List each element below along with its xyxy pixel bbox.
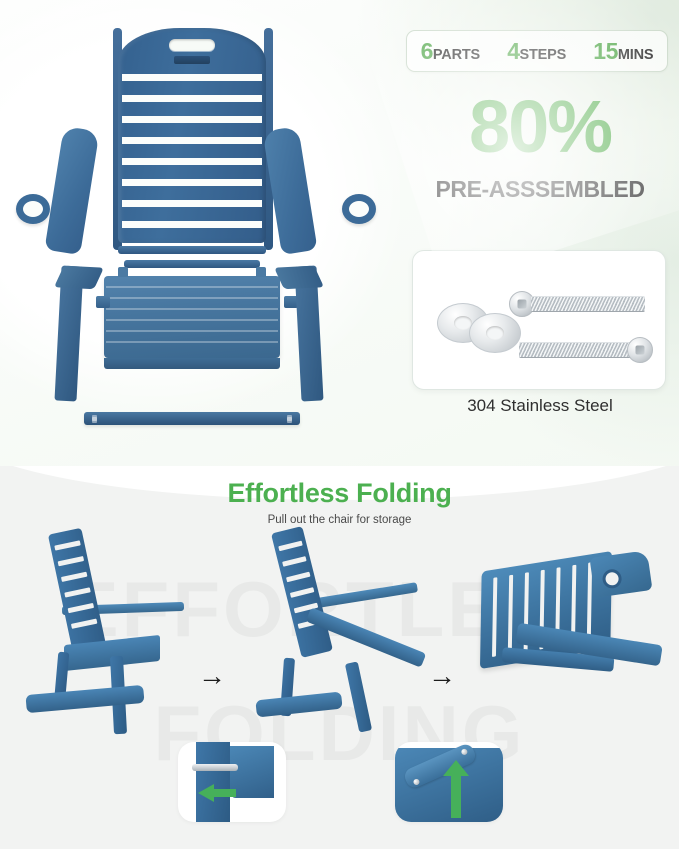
cupholder-ring-right xyxy=(342,194,376,224)
folding-subtitle: Pull out the chair for storage xyxy=(0,514,679,526)
bolt-icon-1 xyxy=(509,293,645,315)
green-arrow-up-shaft xyxy=(451,772,461,818)
preassembled-percentage: 80% xyxy=(406,90,674,164)
connector-block-left xyxy=(96,296,110,308)
stat-mins-label: MINS xyxy=(618,47,653,63)
green-arrow-up-icon xyxy=(443,760,469,776)
chair-step-2-folding xyxy=(248,534,428,734)
bottom-stretcher-bar-part xyxy=(84,412,300,425)
washer-icon-2 xyxy=(469,313,521,353)
stat-steps-number: 4 xyxy=(507,38,519,65)
parts-overview-section: 6 PARTS 4 STEPS 15 MINS 80% PRE-ASSSEMBL… xyxy=(0,0,679,466)
hardware-caption: 304 Stainless Steel xyxy=(406,396,674,416)
cupholder-ring-left xyxy=(16,194,50,224)
backrest-panel-part xyxy=(118,28,266,243)
upper-crossbar-part xyxy=(118,246,266,254)
detail-callout-latch xyxy=(178,742,286,822)
stat-mins: 15 MINS xyxy=(593,38,653,65)
green-arrow-tail-left xyxy=(212,789,236,797)
step-arrow-1-icon: → xyxy=(198,662,226,690)
folding-demo-section: Effortless Folding Pull out the chair fo… xyxy=(0,466,679,849)
folding-steps-row: → → xyxy=(0,534,679,734)
exploded-chair-parts-illustration xyxy=(6,8,396,458)
preassembled-caption: PRE-ASSSEMBLED xyxy=(406,176,674,203)
middle-crossbar-part xyxy=(124,260,260,268)
seat-assembly-part xyxy=(104,276,280,358)
armrest-left-part xyxy=(44,126,99,255)
brand-badge xyxy=(174,56,210,64)
latch-pin-icon xyxy=(192,764,238,771)
assembly-stats-pill: 6 PARTS 4 STEPS 15 MINS xyxy=(406,30,668,72)
green-arrow-left-icon xyxy=(198,784,214,802)
stat-parts-number: 6 xyxy=(421,38,433,65)
stat-parts-label: PARTS xyxy=(433,47,480,63)
step-arrow-2-icon: → xyxy=(428,662,456,690)
stat-parts: 6 PARTS xyxy=(421,38,480,65)
infographic-page: 6 PARTS 4 STEPS 15 MINS 80% PRE-ASSSEMBL… xyxy=(0,0,679,849)
stat-steps: 4 STEPS xyxy=(507,38,566,65)
carry-handle-cutout xyxy=(169,39,215,51)
hardware-card xyxy=(412,250,666,390)
leg-right-part xyxy=(294,266,323,402)
stat-steps-label: STEPS xyxy=(520,47,567,63)
folding-title: Effortless Folding xyxy=(0,478,679,509)
chair-step-1-open xyxy=(12,534,192,734)
bolt-icon-2 xyxy=(519,339,653,361)
leg-left-part xyxy=(54,266,83,402)
detail-callout-leg-lift xyxy=(395,742,503,822)
stat-mins-number: 15 xyxy=(593,38,618,65)
chair-step-3-folded xyxy=(474,548,670,708)
